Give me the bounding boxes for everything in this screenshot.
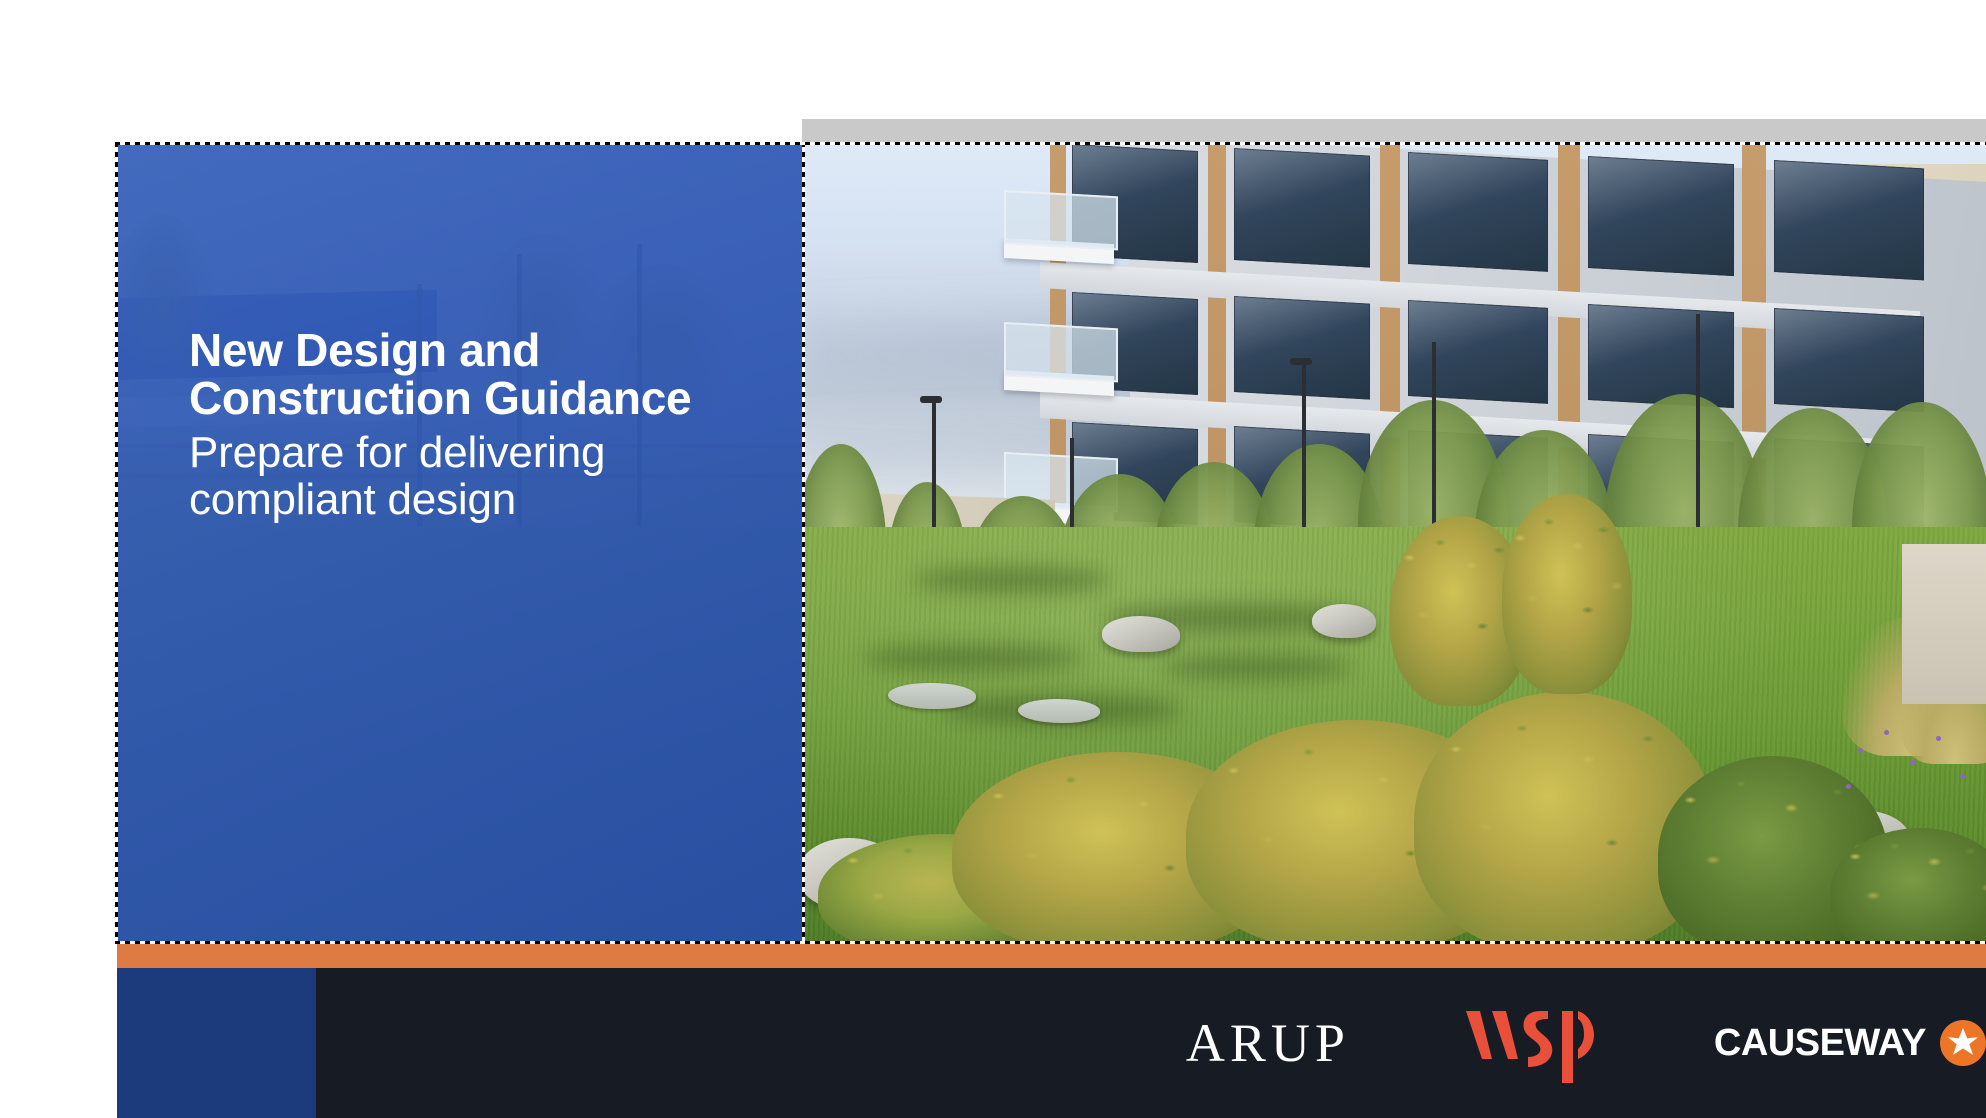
flower xyxy=(1884,730,1889,735)
panel-copy: New Design and Construction Guidance Pre… xyxy=(189,326,729,524)
arup-logo-text: ARUP xyxy=(1186,1016,1350,1070)
footer: ARUP wsp CAUSEWAY xyxy=(117,968,1986,1118)
accent-rule xyxy=(117,944,1986,968)
flower xyxy=(1960,774,1965,779)
arup-logo[interactable]: ARUP xyxy=(1186,1016,1350,1070)
flower xyxy=(1936,736,1941,741)
boulder xyxy=(1312,604,1376,638)
page-margin-top-inset xyxy=(0,119,802,144)
flower xyxy=(1858,748,1863,753)
shrub xyxy=(1502,494,1632,694)
flower xyxy=(1910,760,1915,765)
page-margin-top xyxy=(0,0,1986,119)
panel-blue-overlay xyxy=(117,144,802,942)
footer-left-block xyxy=(117,968,316,1118)
boulder xyxy=(1102,616,1180,652)
wsp-logo[interactable]: wsp xyxy=(1462,1001,1602,1085)
flower xyxy=(1846,784,1851,789)
paving xyxy=(1902,544,1986,704)
causeway-star-icon xyxy=(1940,1020,1986,1066)
slide-canvas: New Design and Construction Guidance Pre… xyxy=(0,0,1986,1118)
photo-top-bar xyxy=(802,119,1986,144)
footer-logo-bar: ARUP wsp CAUSEWAY xyxy=(316,968,1986,1118)
page-margin-left xyxy=(0,0,117,1118)
hero-image[interactable] xyxy=(802,144,1986,942)
causeway-logo[interactable]: CAUSEWAY xyxy=(1714,1020,1986,1066)
panel-subtitle: Prepare for delivering compliant design xyxy=(189,429,729,524)
lamp-head xyxy=(920,396,942,403)
wsp-logo-mark xyxy=(1462,1001,1602,1085)
panel-title: New Design and Construction Guidance xyxy=(189,326,729,423)
title-panel[interactable]: New Design and Construction Guidance Pre… xyxy=(117,144,802,942)
lamp-head xyxy=(1290,358,1312,365)
causeway-logo-text: CAUSEWAY xyxy=(1714,1022,1926,1065)
